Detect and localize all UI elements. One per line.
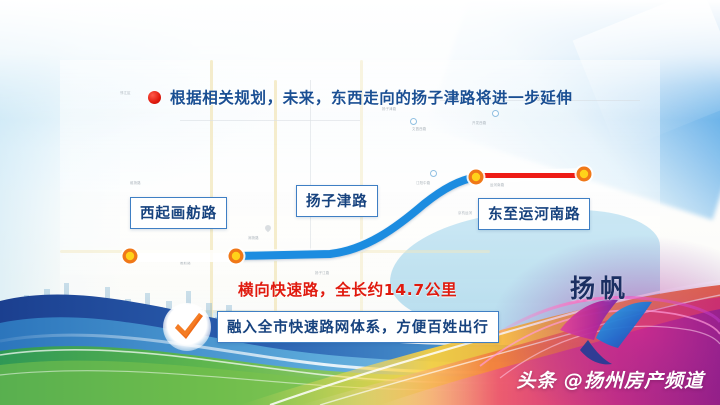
label-road-name: 扬子津路 [296,185,378,217]
watermark-text: 头条 @扬州房产频道 [516,366,704,393]
channel-logo: 扬帆 [522,267,702,347]
label-west-terminus: 西起画舫路 [130,197,227,229]
route-marker-mid [227,247,246,266]
route-marker-west [121,247,140,266]
route-segment-red-east [476,174,584,177]
red-dot-icon [148,91,161,104]
screenshot-canvas: 扬子津路 文昌西路 江阳中路 开发西路 邗江区 运河南路 画舫路 润扬路 维扬路… [0,0,720,405]
headline: 根据相关规划，未来，东西走向的扬子津路将进一步延伸 [148,86,573,108]
headline-text: 根据相关规划，未来，东西走向的扬子津路将进一步延伸 [170,86,573,108]
callout-benefit-text: 融入全市快速路网体系，方便百姓出行 [217,311,499,343]
orange-checkmark-icon [163,303,211,351]
label-east-terminus: 东至运河南路 [478,198,590,230]
logo-text: 扬帆 [570,269,630,305]
route-marker-bend [467,168,486,187]
callout-benefit-row: 融入全市快速路网体系，方便百姓出行 [163,303,499,351]
route-marker-east [575,165,594,184]
callout-length: 横向快速路，全长约14.7公里 [238,278,457,300]
